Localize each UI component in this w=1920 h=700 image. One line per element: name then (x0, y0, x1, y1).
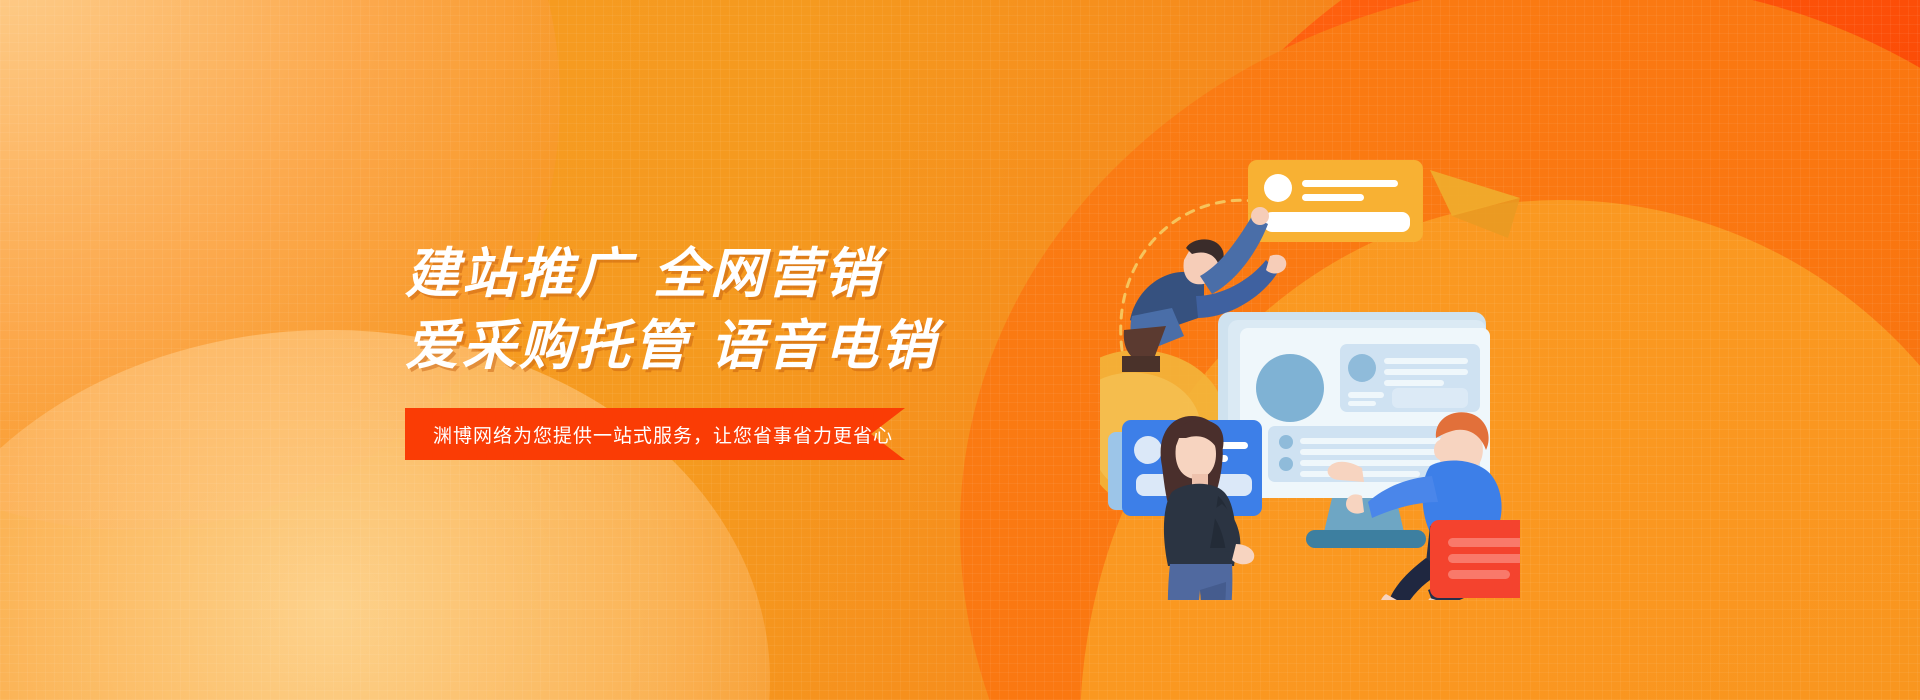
headline-line-2-b: 语音电销 (710, 316, 938, 376)
red-card (1430, 520, 1520, 598)
headline-line-2-a: 爱采购托管 (405, 316, 690, 376)
headline-line-1-a: 建站推广 (405, 244, 633, 304)
ribbon-text: 渊博网络为您提供一站式服务，让您省事省力更省心 (433, 408, 893, 460)
hero-illustration (1100, 120, 1520, 600)
tagline-ribbon: 渊博网络为您提供一站式服务，让您省事省力更省心 (405, 408, 905, 460)
headline-line-2: 爱采购托管语音电销 (405, 310, 1045, 382)
marketing-hero-banner: 建站推广全网营销 爱采购托管语音电销 渊博网络为您提供一站式服务，让您省事省力更… (0, 0, 1920, 700)
headline-line-1: 建站推广全网营销 (405, 238, 1045, 310)
headline-line-1-b: 全网营销 (653, 244, 881, 304)
copy-block: 建站推广全网营销 爱采购托管语音电销 渊博网络为您提供一站式服务，让您省事省力更… (405, 238, 1045, 382)
yellow-floating-card (1248, 160, 1423, 242)
